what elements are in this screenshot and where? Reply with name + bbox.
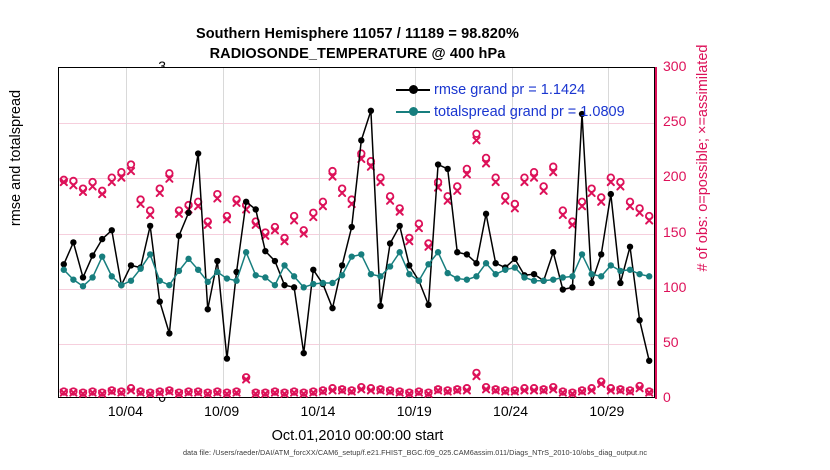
legend-item[interactable]: totalspread grand pr = 1.0809 <box>396 102 625 121</box>
y-tick-label-right: 50 <box>663 334 723 350</box>
x-axis-label: Oct.01,2010 00:00:00 start <box>0 428 715 444</box>
x-tick-label: 10/19 <box>369 403 459 419</box>
obs-marker-series <box>61 137 653 250</box>
x-tick-label: 10/29 <box>562 403 652 419</box>
y-axis-label-left: rmse and totalspread <box>8 8 24 308</box>
totalspread-series <box>61 249 653 290</box>
legend-marker-icon <box>396 105 430 119</box>
right-axis-spine <box>655 67 657 399</box>
legend-marker-icon <box>396 83 430 97</box>
legend-item[interactable]: rmse grand pr = 1.1424 <box>396 80 625 99</box>
y-tick-label-right: 300 <box>663 58 723 74</box>
y-tick-label-right: 200 <box>663 168 723 184</box>
x-tick-label: 10/14 <box>273 403 363 419</box>
x-tick-label: 10/09 <box>177 403 267 419</box>
legend-item-label: rmse grand pr = 1.1424 <box>434 82 585 98</box>
obs-marker-series <box>61 373 653 397</box>
x-tick-label: 10/04 <box>80 403 170 419</box>
rmse-series <box>61 108 653 364</box>
chart-legend: rmse grand pr = 1.1424totalspread grand … <box>396 80 625 121</box>
y-tick-label-right: 100 <box>663 279 723 295</box>
chart-title-line1: Southern Hemisphere 11057 / 11189 = 98.8… <box>0 24 715 44</box>
legend-item-label: totalspread grand pr = 1.0809 <box>434 104 625 120</box>
chart-page: Southern Hemisphere 11057 / 11189 = 98.8… <box>0 0 830 470</box>
y-tick-label-right: 0 <box>663 389 723 405</box>
data-file-footer: data file: /Users/raeder/DAI/ATM_forcXX/… <box>0 448 830 457</box>
y-axis-label-right: # of obs: o=possible; ×=assimilated <box>695 8 711 308</box>
x-tick-label: 10/24 <box>466 403 556 419</box>
y-tick-label-right: 150 <box>663 224 723 240</box>
y-tick-label-right: 250 <box>663 113 723 129</box>
